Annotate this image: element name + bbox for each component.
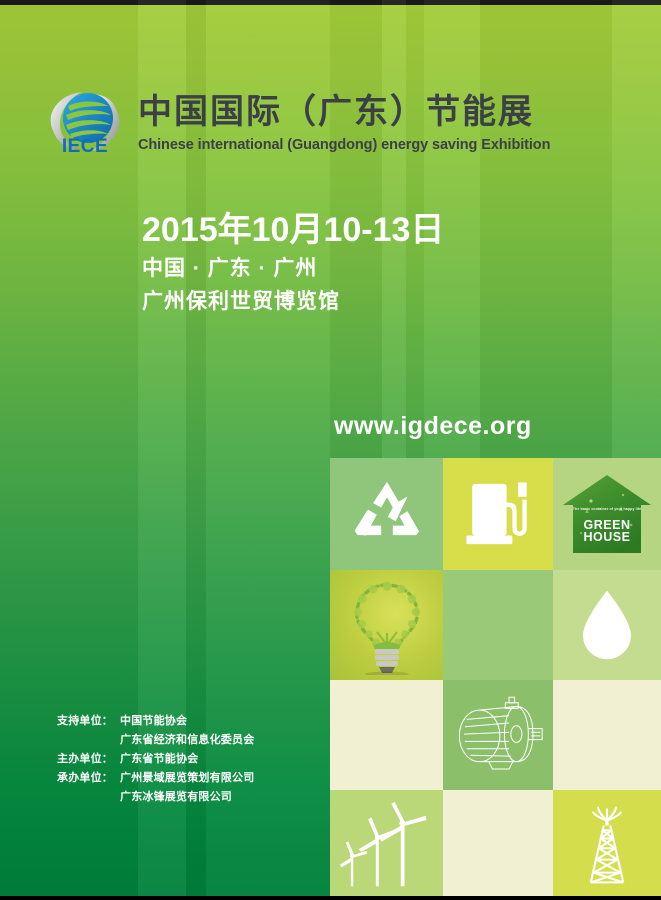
- sponsor-value: 广东省经济和信息化委员会: [120, 731, 254, 750]
- list-item: 承办单位： 广州景域展览策划有限公司: [57, 769, 254, 788]
- grid-tile-empty: [443, 790, 553, 900]
- sponsor-value: 广州景域展览策划有限公司: [120, 769, 254, 788]
- light-bulb-icon: [343, 575, 431, 675]
- list-item: 支持单位： 广东省经济和信息化委员会: [57, 731, 254, 750]
- event-details: 2015年10月10-13日 中国 · 广东 · 广州 广州保利世贸博览馆: [142, 212, 444, 318]
- oil-derrick-icon: [581, 804, 633, 886]
- sponsor-value: 广东省节能协会: [120, 750, 198, 769]
- recycle-icon: [350, 479, 424, 549]
- poster-canvas: IECE 中国国际（广东）节能展 Chinese international (…: [0, 0, 661, 900]
- event-location: 中国 · 广东 · 广州: [142, 253, 444, 286]
- list-item: 主办单位： 广东省节能协会: [57, 750, 254, 769]
- grid-tile-empty: [553, 680, 661, 790]
- fuel-pump-icon: [465, 478, 531, 550]
- grid-tile-electric-motor: [443, 680, 553, 790]
- green-house-icon: The basic container of your happy life G…: [561, 473, 653, 555]
- icon-grid: The basic container of your happy life G…: [330, 458, 661, 900]
- grid-tile-fuel-pump: [443, 458, 553, 570]
- page-title-cn: 中国国际（广东）节能展: [138, 93, 550, 132]
- sponsor-value: 广东冰锋展览有限公司: [120, 788, 232, 807]
- website-url[interactable]: www.igdece.org: [334, 412, 532, 441]
- grid-tile-green-house: The basic container of your happy life G…: [553, 458, 661, 570]
- logo-wordmark: IECE: [62, 136, 108, 157]
- sponsor-label: 主办单位：: [57, 750, 120, 769]
- water-drop-icon: [581, 589, 633, 661]
- sponsor-list: 支持单位： 中国节能协会 支持单位： 广东省经济和信息化委员会 主办单位： 广东…: [57, 712, 254, 807]
- grid-tile-oil-derrick: [553, 790, 661, 900]
- list-item: 承办单位： 广东冰锋展览有限公司: [57, 788, 254, 807]
- sponsor-value: 中国节能协会: [120, 712, 187, 731]
- event-date: 2015年10月10-13日: [142, 212, 444, 249]
- sponsor-label: 支持单位：: [57, 712, 120, 731]
- logo-icon: IECE: [44, 84, 126, 162]
- wind-turbine-icon: [339, 802, 435, 888]
- grid-tile-empty: [330, 680, 443, 790]
- title-block: 中国国际（广东）节能展 Chinese international (Guang…: [138, 93, 550, 153]
- brand-header: IECE 中国国际（广东）节能展 Chinese international (…: [44, 84, 550, 162]
- green-house-sublabel: The basic container of your happy life: [561, 503, 653, 516]
- grid-tile-light-bulb: [330, 570, 443, 680]
- grid-tile-water-drop: [553, 570, 661, 680]
- top-border: [0, 0, 661, 5]
- page-title-en: Chinese international (Guangdong) energy…: [138, 137, 550, 153]
- grid-tile-recycle: [330, 458, 443, 570]
- globe-swoosh-logo: IECE: [44, 84, 126, 162]
- event-venue: 广州保利世贸博览馆: [142, 286, 444, 319]
- grid-tile-empty: [443, 570, 553, 680]
- green-house-label: GREENHOUSE: [561, 519, 653, 544]
- sponsor-label: 承办单位：: [57, 769, 120, 788]
- electric-motor-icon: [452, 695, 544, 775]
- grid-tile-wind-turbine: [330, 790, 443, 900]
- bottom-border: [0, 896, 661, 900]
- list-item: 支持单位： 中国节能协会: [57, 712, 254, 731]
